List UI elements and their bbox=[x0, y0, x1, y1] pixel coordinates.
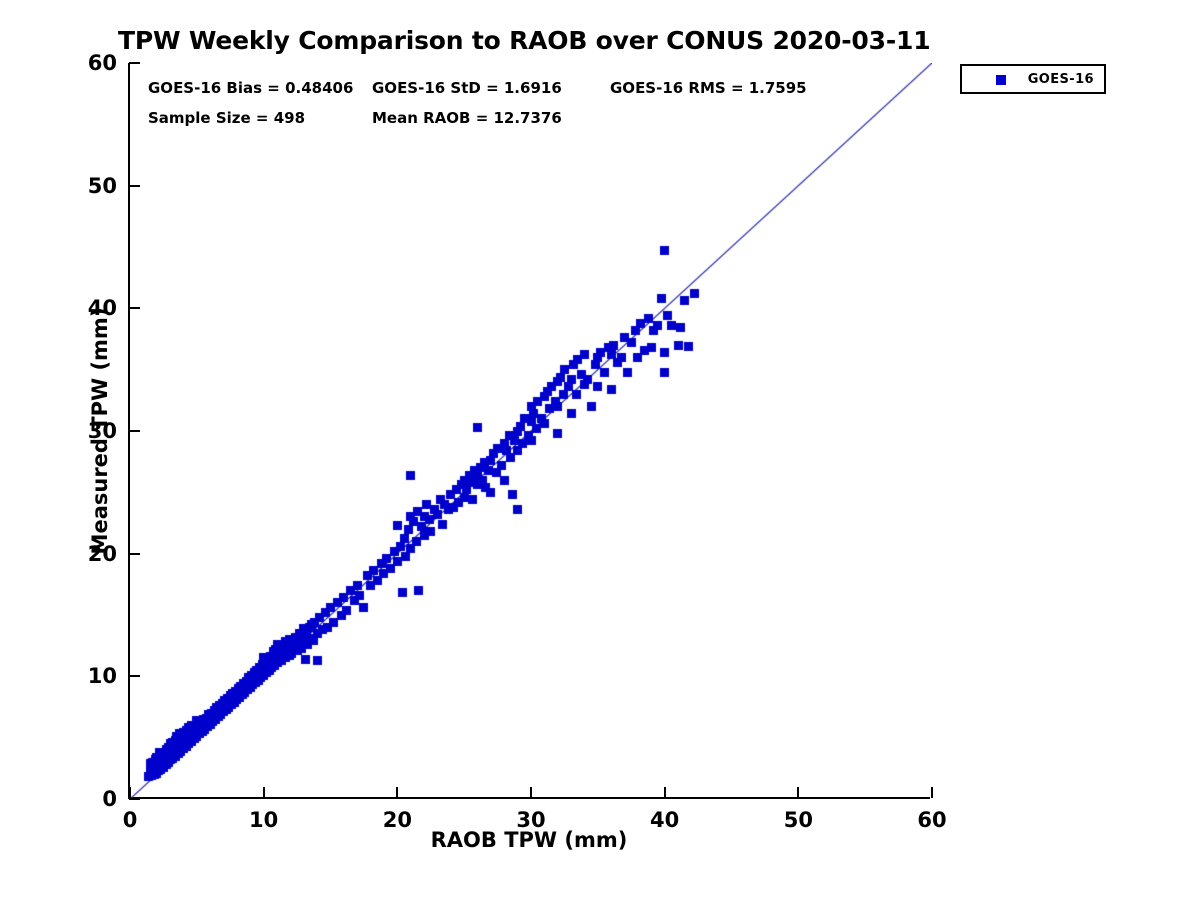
x-tick-40 bbox=[664, 787, 666, 798]
page-title: TPW Weekly Comparison to RAOB over CONUS… bbox=[118, 26, 998, 55]
y-tick-0 bbox=[129, 798, 140, 800]
x-tick-50 bbox=[797, 787, 799, 798]
legend-marker-goes16 bbox=[996, 75, 1006, 85]
sample-size: Sample Size = 498 bbox=[148, 109, 305, 127]
x-tick-30 bbox=[530, 787, 532, 798]
y-tick-40 bbox=[129, 307, 140, 309]
goes16-rms: GOES-16 RMS = 1.7595 bbox=[610, 79, 807, 97]
y-tick-10 bbox=[129, 675, 140, 677]
annotation-row: Sample Size = 498Mean RAOB = 12.7376 bbox=[148, 109, 848, 139]
x-tick-60 bbox=[931, 787, 933, 798]
mean-raob: Mean RAOB = 12.7376 bbox=[372, 109, 562, 127]
plot-area: 0102030405060 0102030405060 bbox=[128, 63, 930, 799]
y-axis-label: Measured TPW (mm) bbox=[88, 63, 112, 799]
x-axis-label: RAOB TPW (mm) bbox=[128, 828, 930, 852]
scatter-plot-canvas bbox=[130, 63, 932, 799]
y-tick-50 bbox=[129, 185, 140, 187]
annotation-row: GOES-16 Bias = 0.48406GOES-16 StD = 1.69… bbox=[148, 79, 848, 109]
legend-box: GOES-16 bbox=[960, 64, 1106, 94]
y-tick-30 bbox=[129, 430, 140, 432]
x-tick-0 bbox=[129, 787, 131, 798]
chart-figure: TPW Weekly Comparison to RAOB over CONUS… bbox=[0, 0, 1200, 900]
goes16-bias: GOES-16 Bias = 0.48406 bbox=[148, 79, 353, 97]
legend-label-goes16: GOES-16 bbox=[1028, 72, 1094, 87]
y-tick-60 bbox=[129, 62, 140, 64]
goes16-std: GOES-16 StD = 1.6916 bbox=[372, 79, 562, 97]
statistics-annotations: GOES-16 Bias = 0.48406GOES-16 StD = 1.69… bbox=[148, 79, 848, 139]
y-tick-20 bbox=[129, 553, 140, 555]
x-tick-20 bbox=[396, 787, 398, 798]
x-tick-10 bbox=[263, 787, 265, 798]
